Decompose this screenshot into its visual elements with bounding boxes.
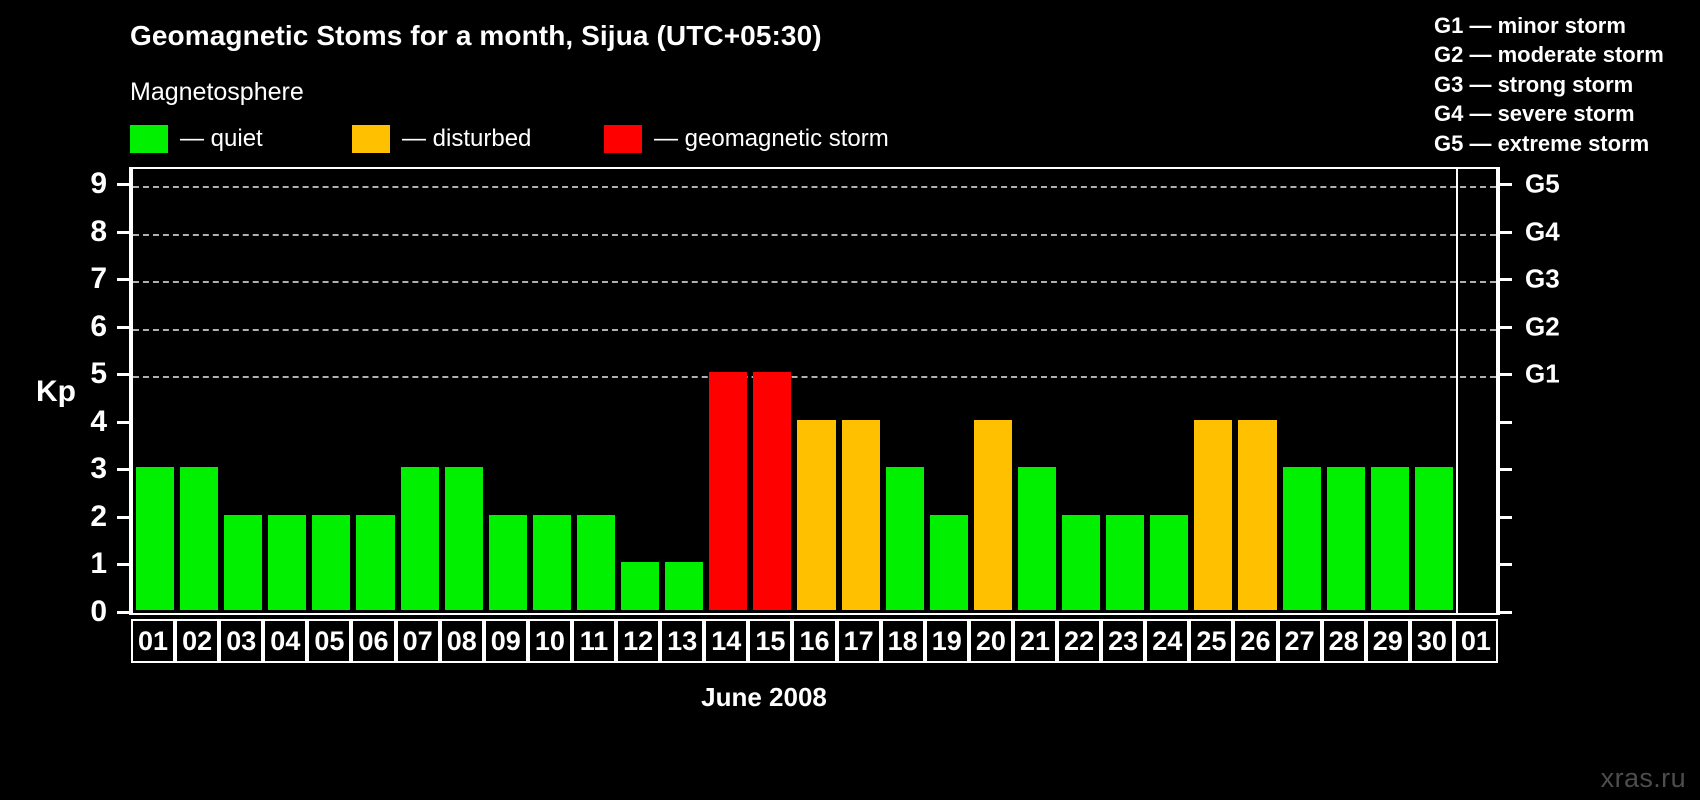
bar-day-06 (356, 515, 394, 610)
x-axis-day-15[interactable]: 16 (792, 619, 836, 663)
x-axis-day-8[interactable]: 09 (484, 619, 528, 663)
y-tick-3 (117, 468, 131, 471)
x-axis-day-labels: 0102030405060708091011121314151617181920… (131, 619, 1498, 663)
g-scale-tick-kp-5 (1498, 373, 1512, 376)
g-scale-tick-kp-6 (1498, 326, 1512, 329)
y-axis-title: Kp (36, 375, 76, 409)
x-axis-day-24[interactable]: 25 (1189, 619, 1233, 663)
bar-day-29 (1371, 467, 1409, 610)
y-tick-6 (117, 326, 131, 329)
x-axis-day-26[interactable]: 27 (1278, 619, 1322, 663)
bar-day-11 (577, 515, 615, 610)
y-tick-5 (117, 373, 131, 376)
gscale-key-row-g1: G1 — minor storm (1434, 11, 1664, 40)
g-scale-tick-kp-0 (1498, 611, 1512, 614)
g-scale-label-g2: G2 (1525, 311, 1560, 342)
x-axis-day-4[interactable]: 05 (307, 619, 351, 663)
g-scale-label-g4: G4 (1525, 216, 1560, 247)
bar-day-30 (1415, 467, 1453, 610)
bar-day-14 (709, 372, 747, 610)
x-axis-day-30[interactable]: 01 (1454, 619, 1498, 663)
bar-day-24 (1150, 515, 1188, 610)
bar-day-15 (753, 372, 791, 610)
y-tick-8 (117, 231, 131, 234)
g-scale-tick-kp-1 (1498, 563, 1512, 566)
g-scale-tick-kp-2 (1498, 516, 1512, 519)
y-tick-label-0: 0 (90, 595, 107, 629)
bar-day-23 (1106, 515, 1144, 610)
g-scale-axis-line (1498, 167, 1500, 615)
x-axis-day-13[interactable]: 14 (704, 619, 748, 663)
bar-day-25 (1194, 420, 1232, 610)
gscale-key-row-g2: G2 — moderate storm (1434, 40, 1664, 69)
g-scale-label-g5: G5 (1525, 169, 1560, 200)
y-tick-label-7: 7 (90, 262, 107, 296)
x-axis-day-2[interactable]: 03 (219, 619, 263, 663)
x-axis-day-20[interactable]: 21 (1013, 619, 1057, 663)
x-axis-day-1[interactable]: 02 (175, 619, 219, 663)
gscale-key-row-g3: G3 — strong storm (1434, 70, 1664, 99)
g-scale-tick-kp-9 (1498, 183, 1512, 186)
y-tick-label-3: 3 (90, 452, 107, 486)
bar-day-09 (489, 515, 527, 610)
x-axis-day-6[interactable]: 07 (396, 619, 440, 663)
bar-day-27 (1283, 467, 1321, 610)
y-tick-0 (117, 611, 131, 614)
bar-day-08 (445, 467, 483, 610)
bar-day-19 (930, 515, 968, 610)
g-scale-tick-kp-7 (1498, 278, 1512, 281)
g-scale-label-g1: G1 (1525, 359, 1560, 390)
g-scale-tick-kp-4 (1498, 421, 1512, 424)
bar-day-21 (1018, 467, 1056, 610)
x-axis-day-10[interactable]: 11 (572, 619, 616, 663)
bar-day-07 (401, 467, 439, 610)
bar-day-03 (224, 515, 262, 610)
x-axis-day-21[interactable]: 22 (1057, 619, 1101, 663)
legend-item-quiet: — quiet (130, 124, 263, 154)
x-axis-title-text: June 2008 (701, 682, 827, 712)
gscale-key-row-g5: G5 — extreme storm (1434, 129, 1664, 158)
legend-label-quiet: — quiet (180, 125, 263, 153)
legend-label-storm: — geomagnetic storm (654, 125, 889, 153)
x-axis-day-18[interactable]: 19 (925, 619, 969, 663)
watermark: xras.ru (1601, 763, 1686, 794)
y-tick-label-6: 6 (90, 310, 107, 344)
x-axis-day-5[interactable]: 06 (351, 619, 395, 663)
legend-item-disturbed: — disturbed (352, 124, 531, 154)
bar-day-02 (180, 467, 218, 610)
legend-swatch-quiet (130, 125, 168, 153)
y-tick-label-2: 2 (90, 500, 107, 534)
bar-day-04 (268, 515, 306, 610)
legend-label-disturbed: — disturbed (402, 125, 531, 153)
g-scale-label-g3: G3 (1525, 264, 1560, 295)
y-tick-4 (117, 421, 131, 424)
x-axis-day-16[interactable]: 17 (837, 619, 881, 663)
x-axis-day-27[interactable]: 28 (1322, 619, 1366, 663)
x-axis-title: June 2008 (0, 682, 1700, 713)
bar-day-16 (797, 420, 835, 610)
gscale-key: G1 — minor storm G2 — moderate storm G3 … (1434, 11, 1664, 158)
bar-day-17 (842, 420, 880, 610)
bar-day-18 (886, 467, 924, 610)
bar-day-05 (312, 515, 350, 610)
x-axis-day-7[interactable]: 08 (440, 619, 484, 663)
y-tick-2 (117, 516, 131, 519)
x-axis-day-28[interactable]: 29 (1366, 619, 1410, 663)
g-scale-tick-kp-8 (1498, 231, 1512, 234)
bar-day-22 (1062, 515, 1100, 610)
y-tick-label-8: 8 (90, 215, 107, 249)
x-axis-day-17[interactable]: 18 (881, 619, 925, 663)
y-tick-1 (117, 563, 131, 566)
chart-inner (133, 169, 1496, 613)
bar-day-20 (974, 420, 1012, 610)
x-axis-day-29[interactable]: 30 (1410, 619, 1454, 663)
month-boundary-line (1456, 169, 1458, 613)
bar-day-10 (533, 515, 571, 610)
x-axis-day-11[interactable]: 12 (616, 619, 660, 663)
g-scale-tick-kp-3 (1498, 468, 1512, 471)
bar-day-26 (1238, 420, 1276, 610)
x-axis-day-9[interactable]: 10 (528, 619, 572, 663)
chart-plot-area (131, 167, 1498, 615)
legend-swatch-storm (604, 125, 642, 153)
x-axis-day-12[interactable]: 13 (660, 619, 704, 663)
y-tick-label-9: 9 (90, 167, 107, 201)
y-tick-label-4: 4 (90, 405, 107, 439)
y-tick-label-5: 5 (90, 357, 107, 391)
x-axis-day-22[interactable]: 23 (1101, 619, 1145, 663)
y-tick-7 (117, 278, 131, 281)
page-title: Geomagnetic Stoms for a month, Sijua (UT… (130, 20, 822, 52)
legend-heading: Magnetosphere (130, 78, 304, 107)
x-axis-day-14[interactable]: 15 (748, 619, 792, 663)
legend-item-storm: — geomagnetic storm (604, 124, 889, 154)
bar-day-01 (136, 467, 174, 610)
y-axis: 0123456789 (112, 167, 131, 615)
gscale-key-row-g4: G4 — severe storm (1434, 99, 1664, 128)
g-scale-axis: G1G2G3G4G5 (1498, 167, 1517, 615)
x-axis-day-25[interactable]: 26 (1233, 619, 1277, 663)
bar-series (133, 169, 1496, 613)
y-tick-9 (117, 183, 131, 186)
x-axis-day-3[interactable]: 04 (263, 619, 307, 663)
bar-day-12 (621, 562, 659, 610)
y-tick-label-1: 1 (90, 547, 107, 581)
legend-swatch-disturbed (352, 125, 390, 153)
x-axis-day-0[interactable]: 01 (131, 619, 175, 663)
bar-day-13 (665, 562, 703, 610)
x-axis-day-19[interactable]: 20 (969, 619, 1013, 663)
bar-day-28 (1327, 467, 1365, 610)
x-axis-day-23[interactable]: 24 (1145, 619, 1189, 663)
